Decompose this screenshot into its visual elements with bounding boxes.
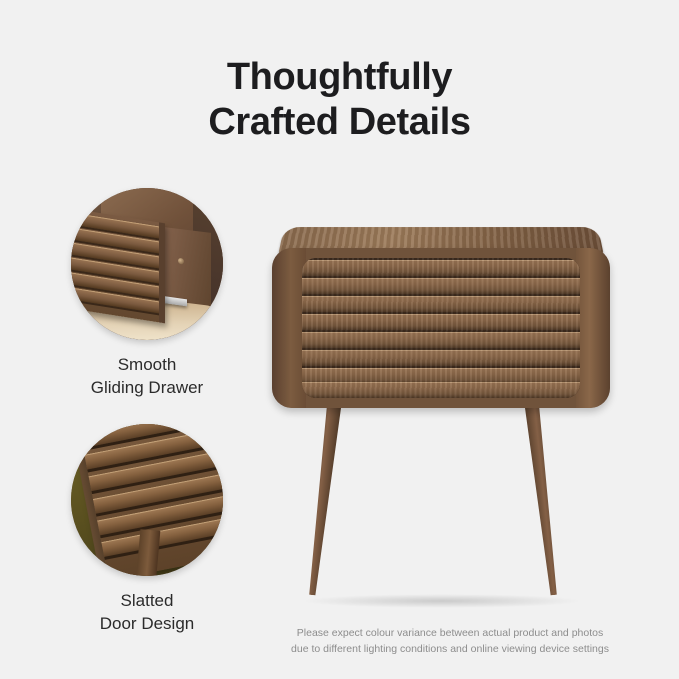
feature-1-caption-line-2: Gliding Drawer <box>57 377 237 400</box>
product-floor-shadow <box>302 594 582 608</box>
pulled-out-drawer <box>71 207 165 324</box>
infographic-canvas: Thoughtfully Crafted Details <box>0 0 679 679</box>
drawer-front-slat <box>302 278 580 296</box>
feature-2-caption: Slatted Door Design <box>57 590 237 636</box>
feature-1-caption: Smooth Gliding Drawer <box>57 354 237 400</box>
feature-2-caption-line-2: Door Design <box>57 613 237 636</box>
cabinet-post-left <box>272 248 306 408</box>
drawer-front-slat <box>302 260 580 278</box>
feature-smooth-gliding-drawer: Smooth Gliding Drawer <box>57 188 237 400</box>
disclaimer-line-2: due to different lighting conditions and… <box>240 642 660 658</box>
nightstand-leg-left <box>300 399 342 596</box>
drawer-screw-detail <box>178 257 184 264</box>
page-title-line-1: Thoughtfully <box>0 55 679 100</box>
page-title-line-2: Crafted Details <box>0 100 679 145</box>
page-title: Thoughtfully Crafted Details <box>0 55 679 145</box>
feature-2-image-wrap <box>71 424 223 576</box>
slatted-door-photo <box>71 424 223 576</box>
drawer-front-slat <box>302 332 580 350</box>
feature-2-caption-line-1: Slatted <box>57 590 237 613</box>
cabinet-leg <box>136 530 160 576</box>
open-drawer-photo <box>71 188 223 340</box>
nightstand-cabinet-body <box>272 248 610 408</box>
feature-1-caption-line-1: Smooth <box>57 354 237 377</box>
feature-slatted-door-design: Slatted Door Design <box>57 424 237 636</box>
drawer-front-slat <box>302 296 580 314</box>
nightstand-leg-right <box>524 399 566 596</box>
feature-1-image-wrap <box>71 188 223 340</box>
slatted-drawer-front <box>302 258 580 398</box>
disclaimer-line-1: Please expect colour variance between ac… <box>240 626 660 642</box>
colour-variance-disclaimer: Please expect colour variance between ac… <box>240 626 660 658</box>
walnut-nightstand-photo <box>262 222 622 602</box>
drawer-front-slat <box>302 350 580 368</box>
drawer-front-slat <box>302 314 580 332</box>
cabinet-post-right <box>576 248 610 408</box>
drawer-front-slat <box>302 382 580 398</box>
